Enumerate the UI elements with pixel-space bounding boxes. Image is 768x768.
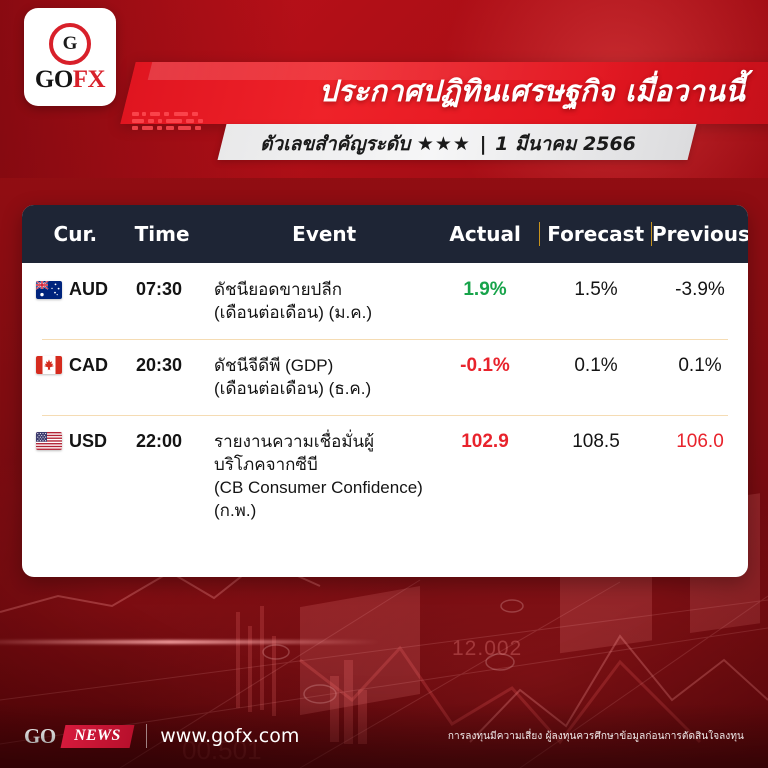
time-cell: 22:00: [130, 431, 214, 452]
actual-value: 102.9: [430, 431, 540, 453]
forecast-value: 1.5%: [540, 279, 652, 301]
gofx-emblem-letter: G: [63, 34, 78, 53]
column-header-forecast: Forecast: [540, 222, 651, 246]
au-flag-icon: [36, 281, 62, 299]
forecast-value: 108.5: [540, 431, 652, 453]
column-header-currency: Cur.: [22, 222, 129, 246]
header-banner: ประกาศปฏิทินเศรษฐกิจ เมื่อวานนี้ ตัวเลขส…: [0, 0, 768, 178]
footer-separator: [146, 724, 147, 748]
table-row[interactable]: USD 22:00 รายงานความเชื่อมั่นผู้บริโภคจา…: [22, 415, 748, 537]
currency-cell: USD: [22, 431, 130, 452]
subtitle-date: 1 มีนาคม 2566: [495, 133, 636, 155]
gofx-wordmark: GOFX: [35, 67, 105, 92]
subtitle-prefix: ตัวเลขสำคัญระดับ: [260, 133, 410, 155]
go-news-badge-text: NEWS: [74, 727, 121, 745]
event-line: (CB Consumer Confidence): [214, 477, 424, 500]
go-news-go-text: GO: [24, 724, 56, 749]
event-cell: ดัชนีจีดีพี (GDP) (เดือนต่อเดือน) (ธ.ค.): [214, 355, 430, 401]
event-line: รายงานความเชื่อมั่นผู้บริโภคจากซีบี: [214, 431, 424, 477]
column-header-event: Event: [218, 222, 431, 246]
risk-disclaimer: การลงทุนมีความเสี่ยง ผู้ลงทุนควรศึกษาข้อ…: [448, 729, 744, 744]
currency-code: AUD: [69, 279, 108, 300]
poster-canvas: 12.002 00.501 ประกาศปฏิทินเศรษฐกิจ เมื่อ…: [0, 0, 768, 768]
gofx-wordmark-fx: FX: [73, 66, 105, 93]
currency-cell: AUD: [22, 279, 130, 300]
subtitle: ตัวเลขสำคัญระดับ ★★★ | 1 มีนาคม 2566: [222, 129, 674, 159]
column-header-actual: Actual: [431, 222, 540, 246]
forecast-value: 0.1%: [540, 355, 652, 377]
currency-code: CAD: [69, 355, 108, 376]
table-row[interactable]: CAD 20:30 ดัชนีจีดีพี (GDP) (เดือนต่อเดื…: [22, 339, 748, 415]
table-header-row: Cur. Time Event Actual Forecast Previous: [22, 205, 748, 263]
go-news-logo[interactable]: GO NEWS: [24, 724, 131, 749]
column-header-previous: Previous: [652, 222, 748, 246]
gofx-emblem-icon: G: [49, 23, 91, 65]
event-line: (ก.พ.): [214, 500, 424, 523]
actual-value: -0.1%: [430, 355, 540, 377]
event-line: (เดือนต่อเดือน) (ธ.ค.): [214, 378, 424, 401]
economic-calendar-table: Cur. Time Event Actual Forecast Previous: [22, 205, 748, 577]
currency-code: USD: [69, 431, 107, 452]
actual-value: 1.9%: [430, 279, 540, 301]
previous-value: 0.1%: [652, 355, 748, 377]
event-line: ดัชนียอดขายปลีก: [214, 279, 424, 302]
website-url[interactable]: www.gofx.com: [160, 725, 299, 747]
column-header-time: Time: [129, 222, 218, 246]
currency-cell: CAD: [22, 355, 130, 376]
us-flag-icon: [36, 432, 62, 450]
subtitle-separator: |: [478, 133, 489, 155]
event-cell: รายงานความเชื่อมั่นผู้บริโภคจากซีบี (CB …: [214, 431, 430, 523]
go-news-badge: NEWS: [60, 725, 133, 748]
event-cell: ดัชนียอดขายปลีก (เดือนต่อเดือน) (ม.ค.): [214, 279, 430, 325]
gofx-wordmark-go: GO: [35, 66, 73, 93]
event-line: (เดือนต่อเดือน) (ม.ค.): [214, 302, 424, 325]
event-line: ดัชนีจีดีพี (GDP): [214, 355, 424, 378]
gofx-logo[interactable]: G GOFX: [24, 8, 116, 106]
ca-flag-icon: [36, 356, 62, 374]
time-cell: 07:30: [130, 279, 214, 300]
previous-value: -3.9%: [652, 279, 748, 301]
table-row[interactable]: AUD 07:30 ดัชนียอดขายปลีก (เดือนต่อเดือน…: [22, 263, 748, 339]
previous-value: 106.0: [652, 431, 748, 453]
table-body: AUD 07:30 ดัชนียอดขายปลีก (เดือนต่อเดือน…: [22, 263, 748, 537]
importance-stars: ★★★: [417, 133, 471, 155]
footer-bar: GO NEWS www.gofx.com การลงทุนมีความเสี่ย…: [0, 704, 768, 768]
time-cell: 20:30: [130, 355, 214, 376]
